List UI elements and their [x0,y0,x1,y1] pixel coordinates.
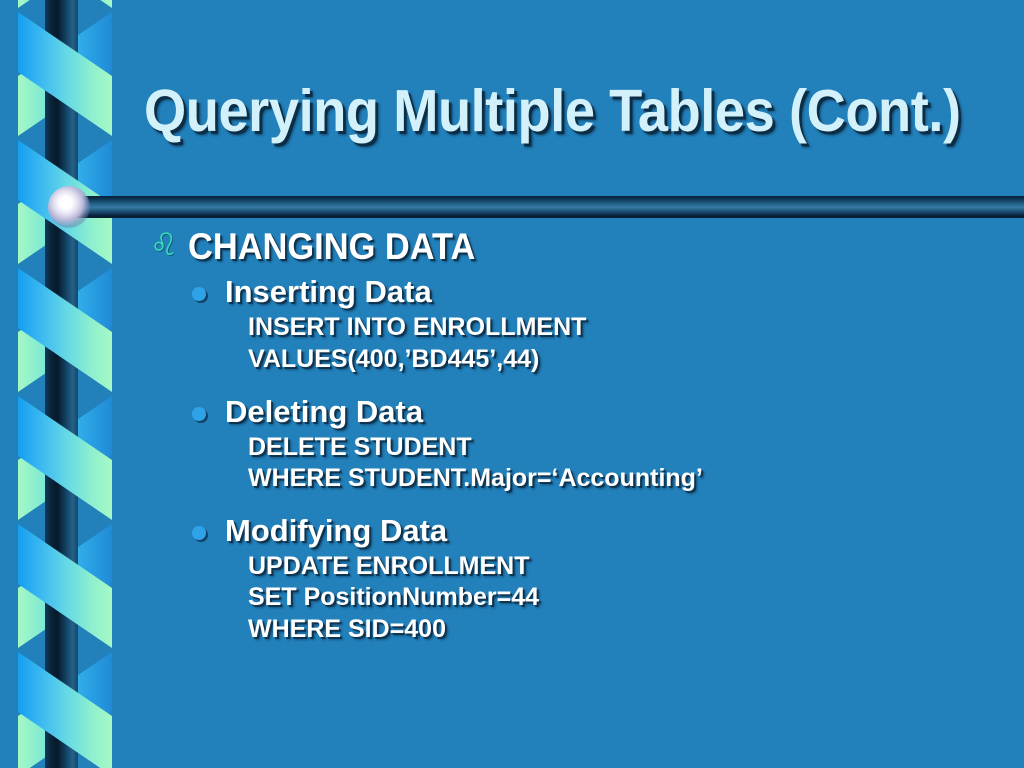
code-line: WHERE STUDENT.Major=‘Accounting’ [0,465,1024,491]
bullet-level2-label: Deleting Data [225,394,423,429]
round-bullet-icon [192,287,206,301]
code-line-text: INSERT INTO ENROLLMENT [248,313,586,341]
bullet-level1-changing-data: ♌ CHANGING DATA [0,228,1024,266]
round-bullet-icon [192,407,206,421]
glow-orb-icon [48,186,90,228]
code-line-text: UPDATE ENROLLMENT [248,552,529,580]
code-line: WHERE SID=400 [0,616,1024,642]
bullet-level2-label: Inserting Data [225,274,432,309]
bullet-level2-modifying-data: Modifying Data [0,515,1024,548]
leo-ornament-bullet-icon: ♌ [150,230,184,261]
bullet-level2-deleting-data: Deleting Data [0,396,1024,429]
code-line-text: WHERE SID=400 [248,615,446,643]
code-line-text: VALUES(400,’BD445’,44) [248,345,539,373]
code-line: INSERT INTO ENROLLMENT [0,314,1024,340]
bullet-level1-label: CHANGING DATA [188,228,475,266]
spacer [0,372,1024,386]
spacer [0,491,1024,505]
round-bullet-icon [192,526,206,540]
bullet-level2-inserting-data: Inserting Data [0,276,1024,309]
slide-title: Querying Multiple Tables (Cont.) [144,82,935,141]
title-divider-rule [62,196,1024,218]
slide-body: ♌ CHANGING DATA Inserting Data INSERT IN… [0,228,1024,758]
presentation-slide: Querying Multiple Tables (Cont.) ♌ CHANG… [0,0,1024,768]
code-line-text: WHERE STUDENT.Major=‘Accounting’ [248,464,703,492]
code-line: DELETE STUDENT [0,434,1024,460]
code-line-text: DELETE STUDENT [248,433,472,461]
code-line: VALUES(400,’BD445’,44) [0,346,1024,372]
code-line: UPDATE ENROLLMENT [0,553,1024,579]
code-line: SET PositionNumber=44 [0,584,1024,610]
bullet-level2-label: Modifying Data [225,513,447,548]
code-line-text: SET PositionNumber=44 [248,583,539,611]
